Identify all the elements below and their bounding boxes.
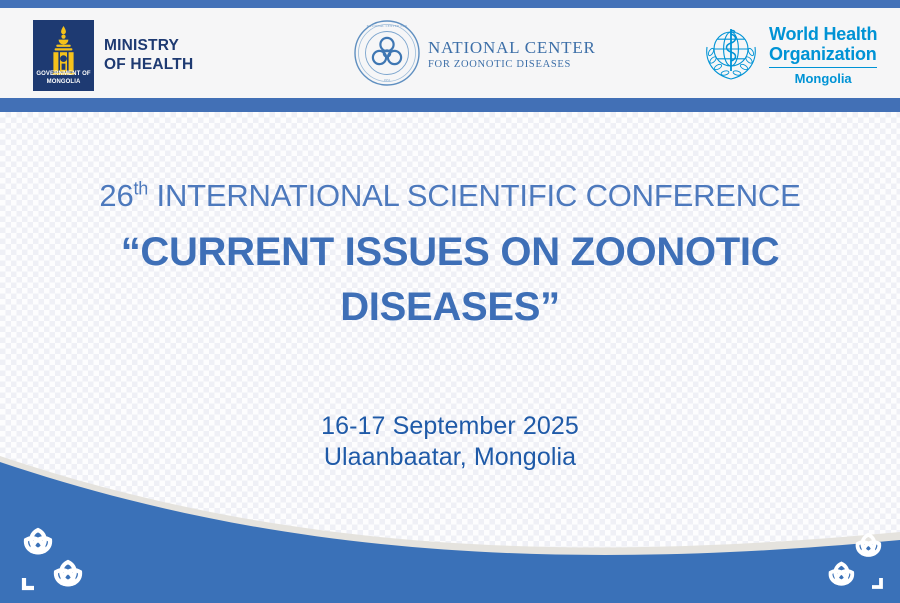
who-logo: World Health Organization Mongolia [700, 18, 877, 92]
ulzii-knot-ornament-icon [818, 525, 890, 600]
svg-text:1951: 1951 [384, 78, 391, 82]
ministry-name-line2: OF HEALTH [104, 55, 193, 74]
theme-title-line1: “CURRENT ISSUES ON ZOONOTIC [0, 225, 900, 280]
biohazard-seal-icon: 1951 NATIONAL CENTER FOR [352, 18, 422, 93]
national-center-zoonotic-diseases-logo: 1951 NATIONAL CENTER FOR NATIONAL CENTER… [352, 19, 596, 91]
event-details-block: 16-17 September 2025 Ulaanbaatar, Mongol… [0, 411, 900, 473]
title-block: 26th INTERNATIONAL SCIENTIFIC CONFERENCE… [0, 175, 900, 335]
ministry-name-line1: MINISTRY [104, 36, 193, 55]
who-name-line1: World Health [769, 24, 877, 44]
ministry-name: MINISTRY OF HEALTH [104, 36, 193, 74]
conference-line: 26th INTERNATIONAL SCIENTIFIC CONFERENCE [0, 175, 900, 217]
crest-caption: GOVERNMENT OF MONGOLIA [33, 70, 94, 86]
who-country: Mongolia [769, 71, 877, 86]
event-location: Ulaanbaatar, Mongolia [0, 442, 900, 473]
theme-title: “CURRENT ISSUES ON ZOONOTIC DISEASES” [0, 225, 900, 335]
who-name-line2: Organization [769, 44, 877, 64]
ulzii-knot-ornament-icon [14, 522, 94, 599]
header-accent-band [0, 98, 900, 112]
nczd-name-line2: FOR ZOONOTIC DISEASES [428, 58, 596, 72]
soyombo-emblem-icon: GOVERNMENT OF MONGOLIA [33, 20, 94, 91]
conference-title-slide: GOVERNMENT OF MONGOLIA MINISTRY OF HEALT… [0, 0, 900, 603]
who-emblem-icon [700, 22, 762, 89]
event-date: 16-17 September 2025 [0, 411, 900, 442]
who-divider [769, 67, 877, 69]
nczd-name: NATIONAL CENTER FOR ZOONOTIC DISEASES [428, 38, 596, 72]
ministry-of-health-logo: GOVERNMENT OF MONGOLIA MINISTRY OF HEALT… [33, 19, 193, 91]
conference-number: 26 [99, 178, 133, 213]
svg-text:NATIONAL CENTER FOR: NATIONAL CENTER FOR [367, 24, 408, 28]
conference-label: INTERNATIONAL SCIENTIFIC CONFERENCE [148, 178, 800, 213]
top-accent-rule [0, 0, 900, 8]
who-name: World Health Organization Mongolia [769, 24, 877, 87]
theme-title-line2: DISEASES” [0, 280, 900, 335]
conference-ordinal: th [134, 179, 149, 199]
nczd-name-line1: NATIONAL CENTER [428, 38, 596, 58]
